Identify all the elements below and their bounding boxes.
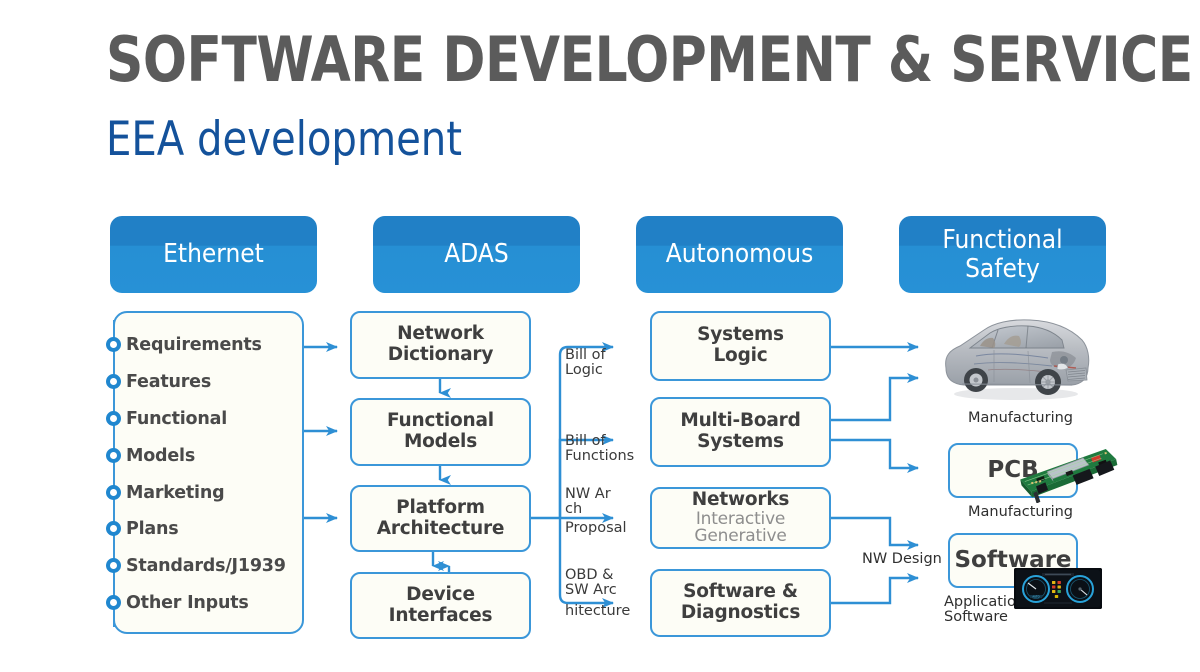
- connector-label-nw-arch: NW Ar ch: [565, 487, 611, 517]
- connector-label-nw-design: NW Design: [862, 552, 942, 567]
- input-bullet-icon: [106, 337, 121, 352]
- input-item-marketing[interactable]: Marketing: [126, 483, 224, 503]
- node-systems-logic[interactable]: Systems Logic: [650, 311, 831, 381]
- node-software-diagnostics-label: Software & Diagnostics: [681, 582, 800, 623]
- inputs-panel: [113, 311, 304, 634]
- node-device-interfaces[interactable]: Device Interfaces: [350, 572, 531, 639]
- node-networks-label: Networks: [692, 490, 790, 511]
- node-network-dictionary[interactable]: Network Dictionary: [350, 311, 531, 379]
- input-bullet-icon: [106, 595, 121, 610]
- pcb-board-image: [1014, 443, 1126, 503]
- caption-application-software: Application Software: [944, 595, 1025, 625]
- node-platform-architecture-label: Platform Architecture: [377, 498, 505, 539]
- pcb-board-icon: [1014, 443, 1126, 503]
- connector-label-bill-of-logic: Bill of Logic: [565, 348, 606, 378]
- input-bullet-icon: [106, 374, 121, 389]
- node-networks-sublabel: Interactive Generative: [694, 511, 786, 546]
- instrument-cluster-image: AUTO: [1014, 568, 1102, 609]
- caption-manufacturing-pcb: Manufacturing: [968, 505, 1073, 520]
- diagram-canvas: SOFTWARE DEVELOPMENT & SERVICE EEA devel…: [0, 0, 1200, 672]
- input-bullet-icon: [106, 448, 121, 463]
- input-bullet-icon: [106, 411, 121, 426]
- instrument-cluster-icon: AUTO: [1014, 568, 1102, 609]
- car-xray-image: [936, 306, 1094, 404]
- node-device-interfaces-label: Device Interfaces: [389, 585, 493, 626]
- input-bullet-icon: [106, 485, 121, 500]
- input-item-standards[interactable]: Standards/J1939: [126, 556, 286, 576]
- connector-label-bill-of-functions: Bill of Functions: [565, 434, 634, 464]
- node-multi-board-systems[interactable]: Multi-Board Systems: [650, 397, 831, 467]
- node-networks[interactable]: Networks Interactive Generative: [650, 487, 831, 549]
- node-functional-models[interactable]: Functional Models: [350, 398, 531, 466]
- input-item-requirements[interactable]: Requirements: [126, 335, 262, 355]
- node-network-dictionary-label: Network Dictionary: [388, 324, 493, 365]
- input-bullet-icon: [106, 521, 121, 536]
- node-systems-logic-label: Systems Logic: [697, 325, 784, 366]
- connector-label-obd-sw-arc: OBD & SW Arc: [565, 568, 617, 598]
- input-item-models[interactable]: Models: [126, 446, 195, 466]
- car-xray-icon: [936, 306, 1094, 404]
- input-item-functional[interactable]: Functional: [126, 409, 227, 429]
- input-item-plans[interactable]: Plans: [126, 519, 179, 539]
- input-item-other-inputs[interactable]: Other Inputs: [126, 593, 249, 613]
- connector-label-proposal: Proposal: [565, 521, 627, 536]
- svg-text:AUTO: AUTO: [1032, 595, 1039, 599]
- connector-label-hitecture: hitecture: [565, 604, 630, 619]
- node-platform-architecture[interactable]: Platform Architecture: [350, 485, 531, 552]
- node-functional-models-label: Functional Models: [387, 411, 494, 452]
- caption-manufacturing-car: Manufacturing: [968, 411, 1073, 426]
- node-software-diagnostics[interactable]: Software & Diagnostics: [650, 569, 831, 637]
- node-multi-board-systems-label: Multi-Board Systems: [680, 411, 800, 452]
- input-item-features[interactable]: Features: [126, 372, 211, 392]
- inputs-rail: [113, 320, 115, 627]
- input-bullet-icon: [106, 558, 121, 573]
